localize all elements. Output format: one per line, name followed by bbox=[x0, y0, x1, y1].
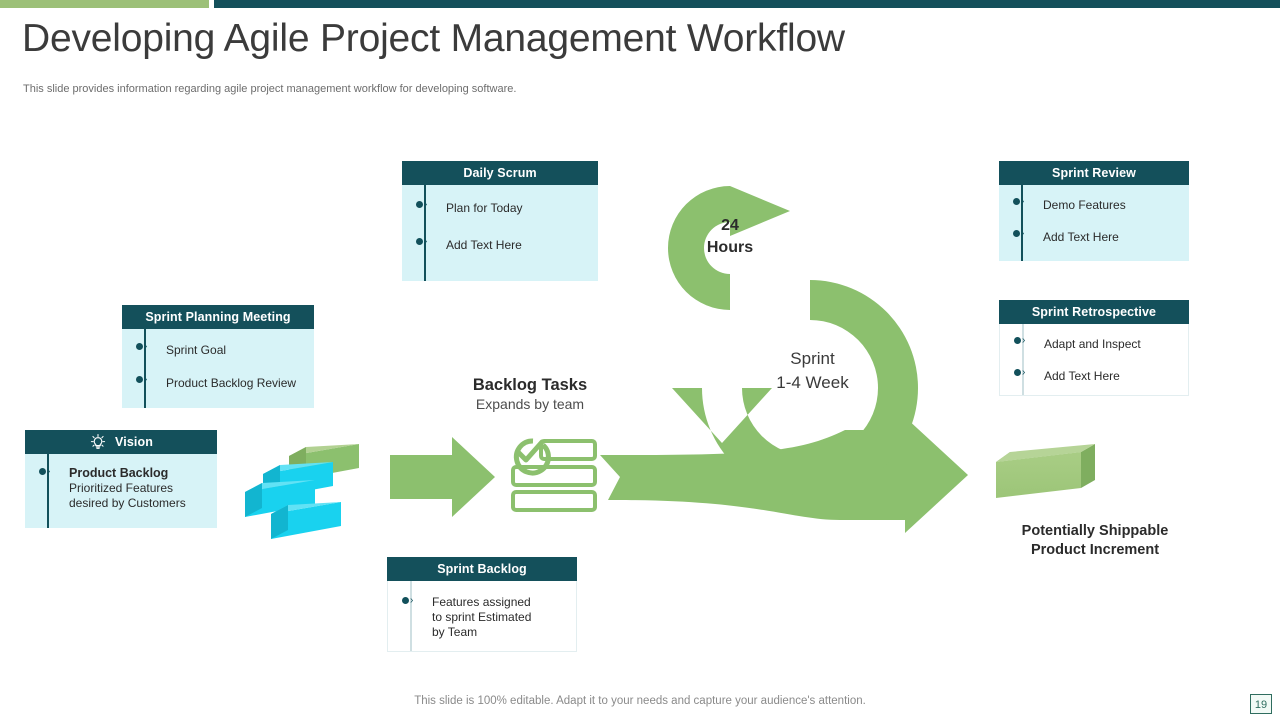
list-item-label: Plan for Today bbox=[446, 201, 523, 216]
card-daily-scrum-body: › Plan for Today › Add Text Here bbox=[402, 185, 598, 281]
backlog-tasks-title: Backlog Tasks bbox=[430, 376, 630, 395]
card-vision-header: Vision bbox=[25, 430, 217, 454]
list-item: › Add Text Here bbox=[402, 238, 598, 253]
product-increment-line2: Product Increment bbox=[990, 541, 1200, 560]
bullet-marker-icon: › bbox=[1014, 337, 1025, 344]
sprint-cycle-label-line2: 1-4 Week bbox=[745, 371, 880, 395]
backlog-input-arrow bbox=[390, 437, 495, 517]
daily-cycle-label-line1: 24 bbox=[680, 215, 780, 237]
lightbulb-icon bbox=[89, 433, 107, 451]
card-sprint-retrospective-body: › Adapt and Inspect › Add Text Here bbox=[999, 324, 1189, 396]
card-sprint-review-header: Sprint Review bbox=[999, 161, 1189, 185]
list-item-label: Product Backlog Review bbox=[166, 376, 296, 391]
card-sprint-planning-meeting[interactable]: Sprint Planning Meeting › Sprint Goal › … bbox=[122, 305, 314, 408]
card-sprint-backlog[interactable]: Sprint Backlog › Features assigned to sp… bbox=[387, 557, 577, 652]
product-increment-label: Potentially Shippable Product Increment bbox=[990, 522, 1200, 560]
slide-root: Developing Agile Project Management Work… bbox=[0, 0, 1280, 720]
list-item-label: Features assigned to sprint Estimated by… bbox=[432, 595, 531, 640]
list-item: › Sprint Goal bbox=[122, 343, 314, 358]
card-sprint-retrospective[interactable]: Sprint Retrospective › Adapt and Inspect… bbox=[999, 300, 1189, 396]
card-sprint-planning-meeting-header: Sprint Planning Meeting bbox=[122, 305, 314, 329]
list-item-label: Add Text Here bbox=[446, 238, 522, 253]
list-item: › Add Text Here bbox=[999, 230, 1189, 245]
bullet-marker-icon: › bbox=[1013, 198, 1024, 205]
list-item: › Features assigned to sprint Estimated … bbox=[388, 595, 576, 640]
list-item-label: Add Text Here bbox=[1043, 230, 1119, 245]
list-item: › Adapt and Inspect bbox=[1000, 337, 1188, 352]
list-item: › Product Backlog Review bbox=[122, 376, 314, 391]
card-sprint-retrospective-header: Sprint Retrospective bbox=[999, 300, 1189, 324]
card-sprint-backlog-title: Sprint Backlog bbox=[437, 557, 527, 581]
bullet-marker-icon: › bbox=[1014, 369, 1025, 376]
card-sprint-backlog-body: › Features assigned to sprint Estimated … bbox=[387, 581, 577, 652]
list-item: › Demo Features bbox=[999, 198, 1189, 213]
bullet-marker-icon: › bbox=[136, 343, 147, 350]
list-item-label: Adapt and Inspect bbox=[1044, 337, 1141, 352]
card-daily-scrum-header: Daily Scrum bbox=[402, 161, 598, 185]
card-vision-body: › Product Backlog Prioritized Features d… bbox=[25, 454, 217, 528]
page-subtitle: This slide provides information regardin… bbox=[23, 83, 516, 95]
product-increment-box-icon bbox=[996, 444, 1095, 498]
top-accent-bar-green bbox=[0, 0, 209, 8]
list-item-label: Sprint Goal bbox=[166, 343, 226, 358]
list-item-label: Demo Features bbox=[1043, 198, 1126, 213]
card-sprint-review[interactable]: Sprint Review › Demo Features › Add Text… bbox=[999, 161, 1189, 261]
card-sprint-review-title: Sprint Review bbox=[1052, 161, 1136, 185]
backlog-checklist-icon bbox=[513, 441, 595, 510]
card-vision[interactable]: Vision › Product Backlog Prioritized Fea… bbox=[25, 430, 217, 528]
card-sprint-planning-meeting-body: › Sprint Goal › Product Backlog Review bbox=[122, 329, 314, 408]
main-flow-arrow bbox=[600, 417, 968, 533]
card-sprint-planning-meeting-title: Sprint Planning Meeting bbox=[145, 305, 290, 329]
backlog-tasks-subtitle: Expands by team bbox=[430, 396, 630, 412]
card-daily-scrum[interactable]: Daily Scrum › Plan for Today › Add Text … bbox=[402, 161, 598, 281]
page-number: 19 bbox=[1250, 694, 1272, 714]
sprint-cycle-label-line1: Sprint bbox=[745, 347, 880, 371]
page-title: Developing Agile Project Management Work… bbox=[22, 17, 845, 61]
list-item: › Product Backlog Prioritized Features d… bbox=[25, 466, 217, 511]
backlog-stack-icon bbox=[245, 444, 359, 539]
bullet-marker-icon: › bbox=[416, 238, 427, 245]
card-sprint-backlog-header: Sprint Backlog bbox=[387, 557, 577, 581]
list-item: › Add Text Here bbox=[1000, 369, 1188, 384]
top-accent-bar-teal bbox=[214, 0, 1280, 8]
bullet-marker-icon: › bbox=[136, 376, 147, 383]
list-item-label: Product Backlog Prioritized Features des… bbox=[69, 466, 186, 511]
daily-cycle-label: 24 Hours bbox=[680, 215, 780, 259]
bullet-marker-icon: › bbox=[1013, 230, 1024, 237]
list-item-label: Add Text Here bbox=[1044, 369, 1120, 384]
card-daily-scrum-title: Daily Scrum bbox=[463, 161, 536, 185]
card-sprint-review-body: › Demo Features › Add Text Here bbox=[999, 185, 1189, 261]
card-sprint-retrospective-title: Sprint Retrospective bbox=[1032, 300, 1156, 324]
bullet-marker-icon: › bbox=[39, 468, 50, 475]
bullet-marker-icon: › bbox=[416, 201, 427, 208]
sprint-cycle-label: Sprint 1-4 Week bbox=[745, 347, 880, 395]
footer-note: This slide is 100% editable. Adapt it to… bbox=[0, 695, 1280, 707]
list-item: › Plan for Today bbox=[402, 201, 598, 216]
card-vision-title: Vision bbox=[115, 430, 153, 454]
bullet-marker-icon: › bbox=[402, 597, 413, 604]
product-increment-line1: Potentially Shippable bbox=[990, 522, 1200, 541]
daily-cycle-label-line2: Hours bbox=[680, 237, 780, 259]
